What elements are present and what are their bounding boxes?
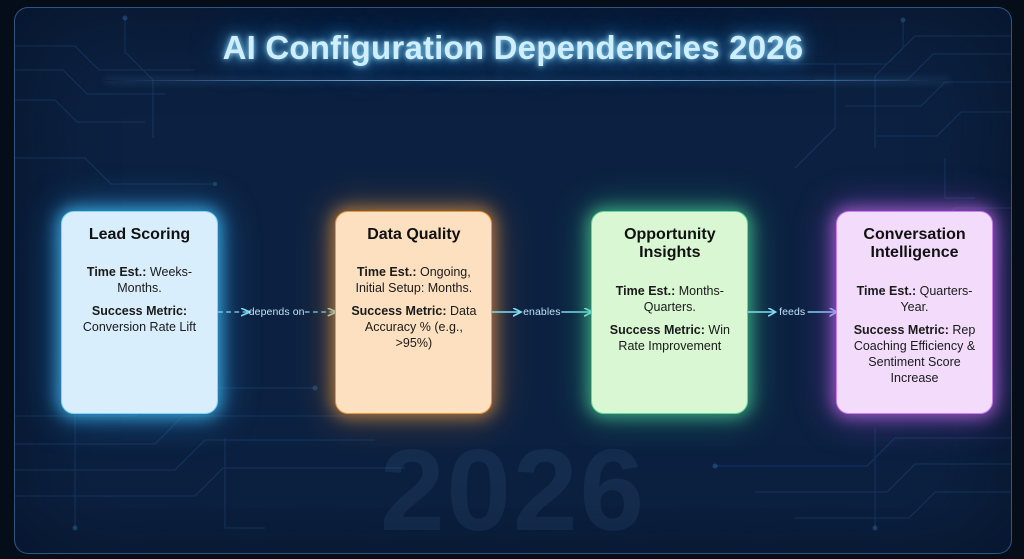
node-time-estimate: Time Est.: Ongoing, Initial Setup: Month… [345, 264, 482, 296]
dependency-flow: Lead Scoring Time Est.: Weeks-Months. Su… [61, 204, 993, 420]
node-conversation-intelligence[interactable]: Conversation Intelligence Time Est.: Qua… [836, 211, 993, 414]
node-title: Conversation Intelligence [846, 226, 983, 263]
success-metric-label: Success Metric: [854, 323, 949, 337]
connector-depends-on: depends on [218, 292, 335, 332]
page-title: AI Configuration Dependencies 2026 [15, 29, 1011, 67]
success-metric-value: Conversion Rate Lift [83, 320, 196, 334]
node-lead-scoring[interactable]: Lead Scoring Time Est.: Weeks-Months. Su… [61, 211, 218, 414]
time-est-label: Time Est.: [857, 284, 917, 298]
connector-label: feeds [776, 306, 808, 318]
node-opportunity-insights[interactable]: Opportunity Insights Time Est.: Months-Q… [591, 211, 748, 414]
time-est-label: Time Est.: [616, 284, 676, 298]
node-time-estimate: Time Est.: Quarters-Year. [846, 283, 983, 315]
diagram-panel: 2026 AI Configuration Dependencies 2026 … [14, 7, 1012, 554]
node-title: Opportunity Insights [601, 226, 738, 263]
time-est-label: Time Est.: [87, 265, 147, 279]
success-metric-label: Success Metric: [610, 323, 705, 337]
connector-label: enables [520, 306, 563, 318]
node-success-metric: Success Metric: Win Rate Improvement [601, 322, 738, 354]
node-title: Data Quality [345, 226, 482, 245]
title-divider [105, 80, 949, 81]
connector-enables: enables [492, 292, 591, 332]
node-title: Lead Scoring [71, 226, 208, 245]
node-time-estimate: Time Est.: Weeks-Months. [71, 264, 208, 296]
success-metric-label: Success Metric: [351, 304, 446, 318]
diagram-canvas: 2026 AI Configuration Dependencies 2026 … [0, 0, 1024, 559]
node-success-metric: Success Metric: Conversion Rate Lift [71, 303, 208, 335]
node-data-quality[interactable]: Data Quality Time Est.: Ongoing, Initial… [335, 211, 492, 414]
year-watermark: 2026 [15, 432, 1011, 548]
time-est-label: Time Est.: [357, 265, 417, 279]
connector-label: depends on [246, 306, 308, 318]
success-metric-label: Success Metric: [92, 304, 187, 318]
node-time-estimate: Time Est.: Months-Quarters. [601, 283, 738, 315]
connector-feeds: feeds [748, 292, 836, 332]
node-success-metric: Success Metric: Data Accuracy % (e.g., >… [345, 303, 482, 351]
node-success-metric: Success Metric: Rep Coaching Efficiency … [846, 322, 983, 386]
